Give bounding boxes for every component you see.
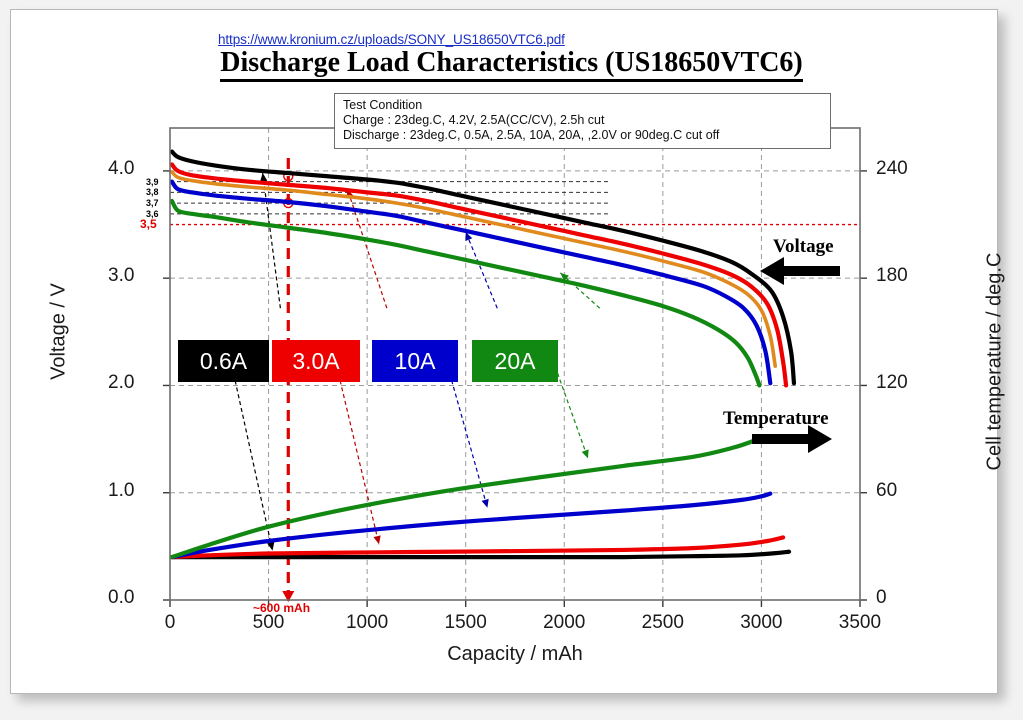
test-condition-charge: Charge : 23deg.C, 4.2V, 2.5A(CC/CV), 2.5… bbox=[343, 113, 824, 128]
temperature-annotation-label: Temperature bbox=[723, 408, 829, 430]
legend-chip-label: 20A bbox=[495, 348, 536, 375]
y-axis-right-tick-label: 0 bbox=[876, 587, 887, 609]
test-condition-discharge: Discharge : 23deg.C, 0.5A, 2.5A, 10A, 20… bbox=[343, 128, 824, 143]
minor-tick-label-3-5: 3,5 bbox=[140, 217, 157, 231]
legend-leader-arrow bbox=[582, 449, 589, 458]
y-axis-right-tick-label: 60 bbox=[876, 480, 897, 502]
x-axis-tick-label: 3500 bbox=[839, 612, 881, 634]
y-axis-left-tick-label: 4.0 bbox=[108, 158, 134, 180]
y-axis-right-tick-label: 120 bbox=[876, 372, 908, 394]
legend-chip-10A[interactable]: 10A bbox=[372, 340, 458, 382]
voltage-direction-arrow bbox=[760, 257, 840, 285]
voltage-annotation-label: Voltage bbox=[773, 236, 834, 258]
legend-leader-arrow bbox=[482, 499, 489, 508]
legend-chip-label: 0.6A bbox=[200, 348, 247, 375]
legend-leader-arrow bbox=[374, 535, 381, 544]
y-axis-left-tick-label: 3.0 bbox=[108, 265, 134, 287]
page-title: Discharge Load Characteristics (US18650V… bbox=[0, 47, 1023, 79]
x-axis-tick-label: 500 bbox=[253, 612, 285, 634]
x-axis-tick-label: 2500 bbox=[642, 612, 684, 634]
test-condition-box: Test Condition Charge : 23deg.C, 4.2V, 2… bbox=[334, 93, 831, 149]
legend-chip-20A[interactable]: 20A bbox=[472, 340, 558, 382]
screenshot-root: https://www.kronium.cz/uploads/SONY_US18… bbox=[0, 0, 1023, 720]
y-axis-left-tick-label: 0.0 bbox=[108, 587, 134, 609]
y-axis-right-tick-label: 240 bbox=[876, 158, 908, 180]
legend-chip-0-6A[interactable]: 0.6A bbox=[178, 340, 269, 382]
legend-chip-3-0A[interactable]: 3.0A bbox=[272, 340, 360, 382]
x-axis-tick-label: 1500 bbox=[445, 612, 487, 634]
minor-tick-label-3-8: 3,8 bbox=[146, 187, 159, 197]
capacity-marker-label: ~600 mAh bbox=[253, 601, 310, 615]
legend-leader-line bbox=[229, 353, 272, 550]
x-axis-tick-label: 2000 bbox=[543, 612, 585, 634]
minor-tick-label-3-7: 3,7 bbox=[146, 198, 159, 208]
y-axis-right-title: Cell temperature / deg.C bbox=[984, 237, 1007, 487]
x-axis-tick-label: 3000 bbox=[740, 612, 782, 634]
legend-leader-line bbox=[263, 173, 281, 308]
minor-tick-label-3-9: 3,9 bbox=[146, 177, 159, 187]
y-axis-left-title: Voltage / V bbox=[48, 247, 71, 417]
legend-chip-label: 3.0A bbox=[292, 348, 339, 375]
y-axis-right-tick-label: 180 bbox=[876, 265, 908, 287]
x-axis-title: Capacity / mAh bbox=[330, 643, 700, 666]
test-condition-heading: Test Condition bbox=[343, 98, 824, 113]
source-url-link[interactable]: https://www.kronium.cz/uploads/SONY_US18… bbox=[218, 32, 565, 47]
legend-leader-line bbox=[466, 232, 498, 308]
x-axis-tick-label: 0 bbox=[165, 612, 176, 634]
y-axis-left-tick-label: 1.0 bbox=[108, 480, 134, 502]
legend-leader-arrow bbox=[260, 173, 267, 182]
legend-chip-label: 10A bbox=[395, 348, 436, 375]
page-title-text: Discharge Load Characteristics (US18650V… bbox=[220, 47, 803, 82]
x-axis-tick-label: 1000 bbox=[346, 612, 388, 634]
y-axis-left-tick-label: 2.0 bbox=[108, 372, 134, 394]
